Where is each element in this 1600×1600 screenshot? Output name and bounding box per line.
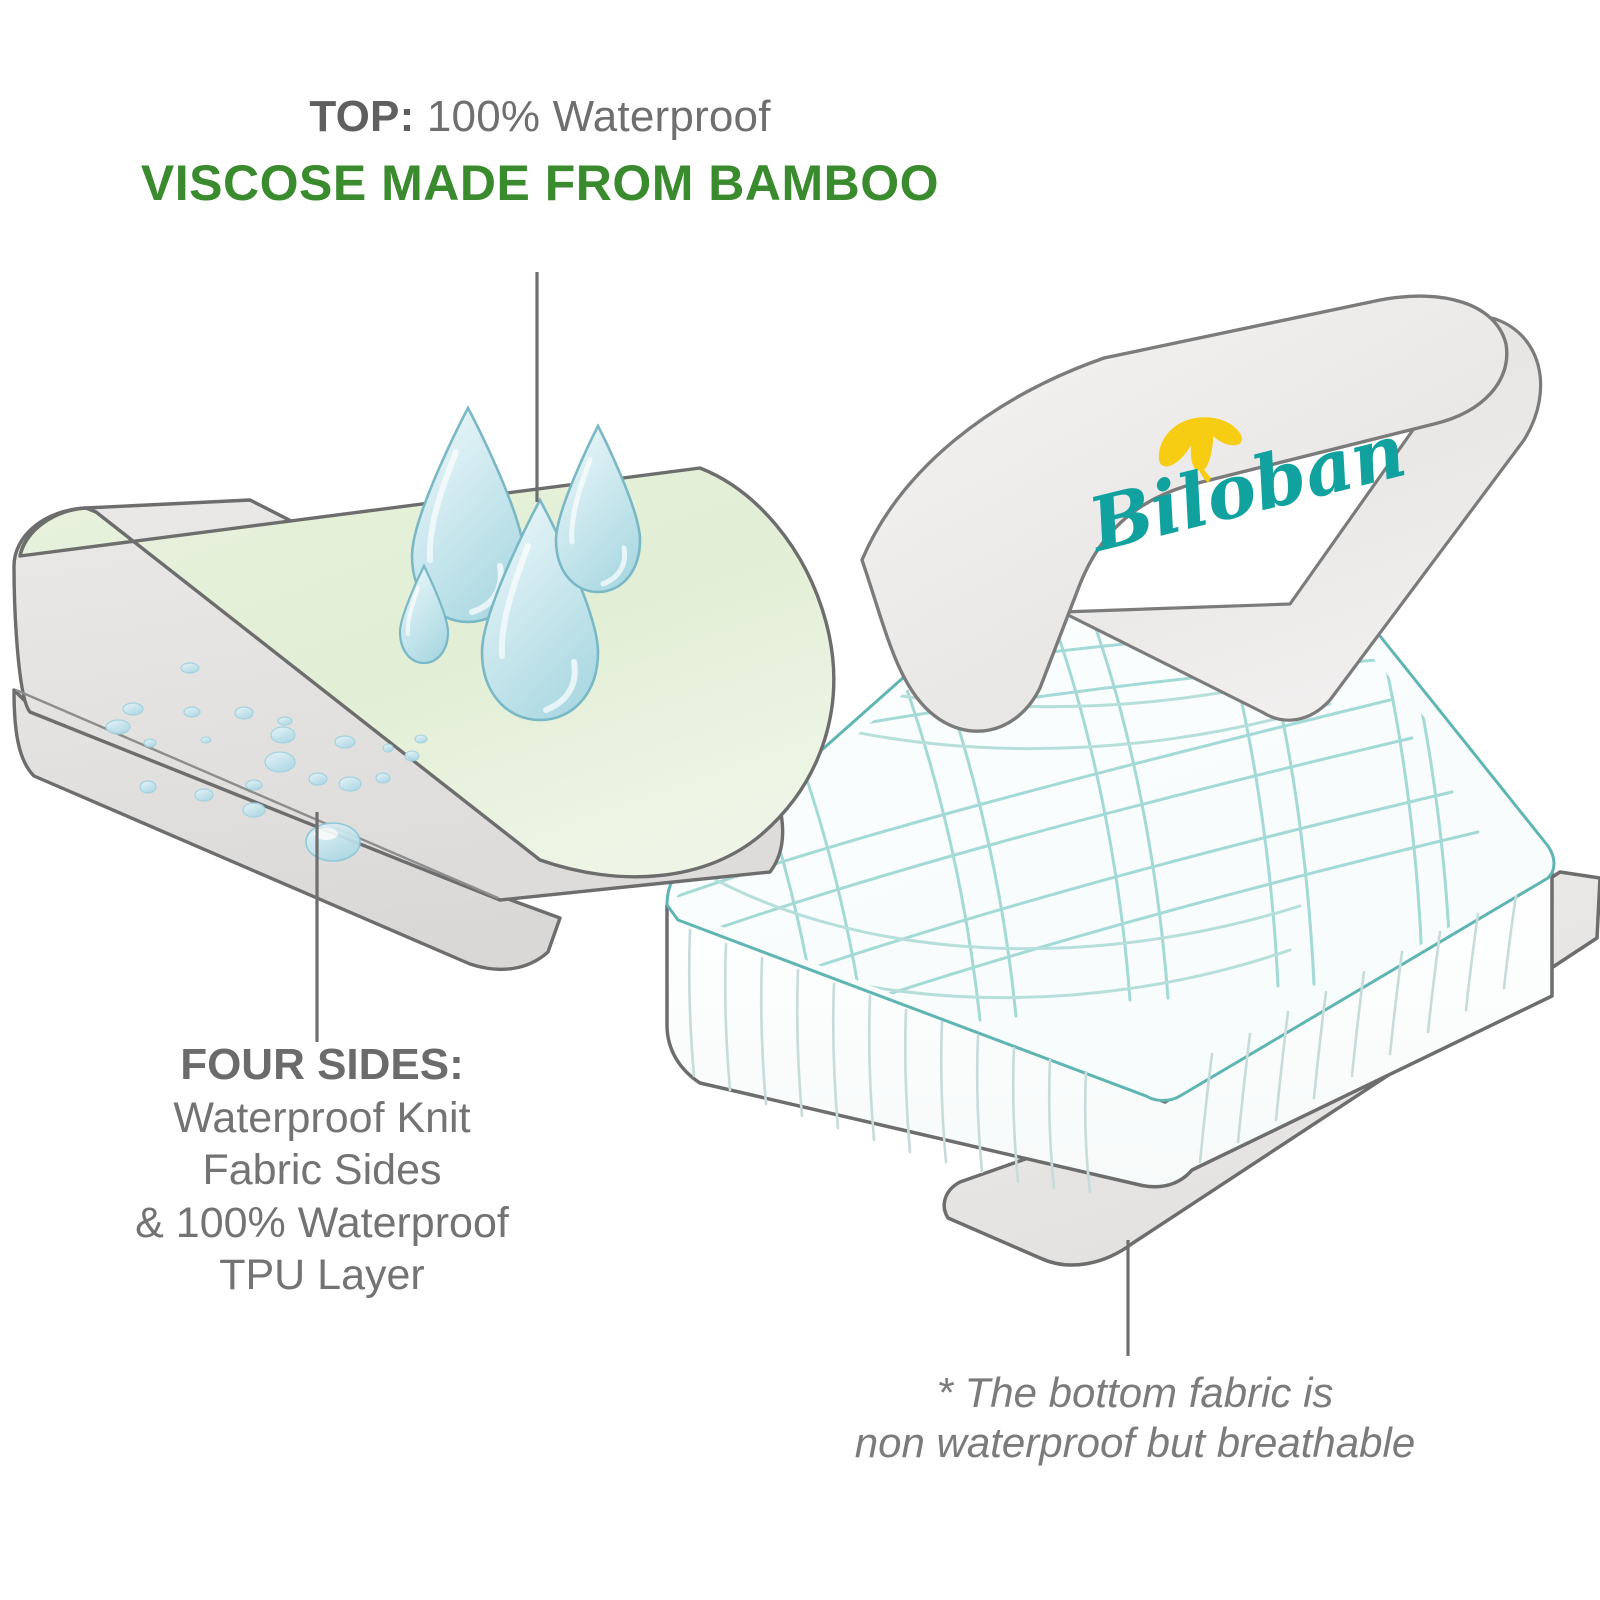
callout-top-line1: TOP: 100% Waterproof [0, 92, 1080, 142]
callout-four-sides-title: FOUR SIDES: [62, 1038, 582, 1092]
mattress-protector-illustration: Biloban [0, 0, 1600, 1600]
callout-top-line2: VISCOSE MADE FROM BAMBOO [0, 154, 1080, 212]
callout-four-sides-line-2: Fabric Sides [62, 1144, 582, 1196]
infographic-canvas: Biloban [0, 0, 1600, 1600]
callout-four-sides: FOUR SIDES: Waterproof Knit Fabric Sides… [62, 1038, 582, 1301]
callout-bottom-note-line-2: non waterproof but breathable [740, 1418, 1530, 1468]
callout-bottom-note-line-1: * The bottom fabric is [740, 1368, 1530, 1418]
callout-top: TOP: 100% Waterproof VISCOSE MADE FROM B… [0, 92, 1080, 212]
callout-four-sides-line-1: Waterproof Knit [62, 1092, 582, 1144]
large-water-bead [306, 823, 360, 861]
callout-four-sides-line-4: TPU Layer [62, 1249, 582, 1301]
callout-top-line1-strong: TOP: [309, 92, 414, 141]
callout-bottom-note: * The bottom fabric is non waterproof bu… [740, 1368, 1530, 1469]
water-droplet-icon [556, 426, 640, 592]
callout-four-sides-line-3: & 100% Waterproof [62, 1197, 582, 1249]
callout-top-line1-rest: 100% Waterproof [414, 92, 770, 141]
